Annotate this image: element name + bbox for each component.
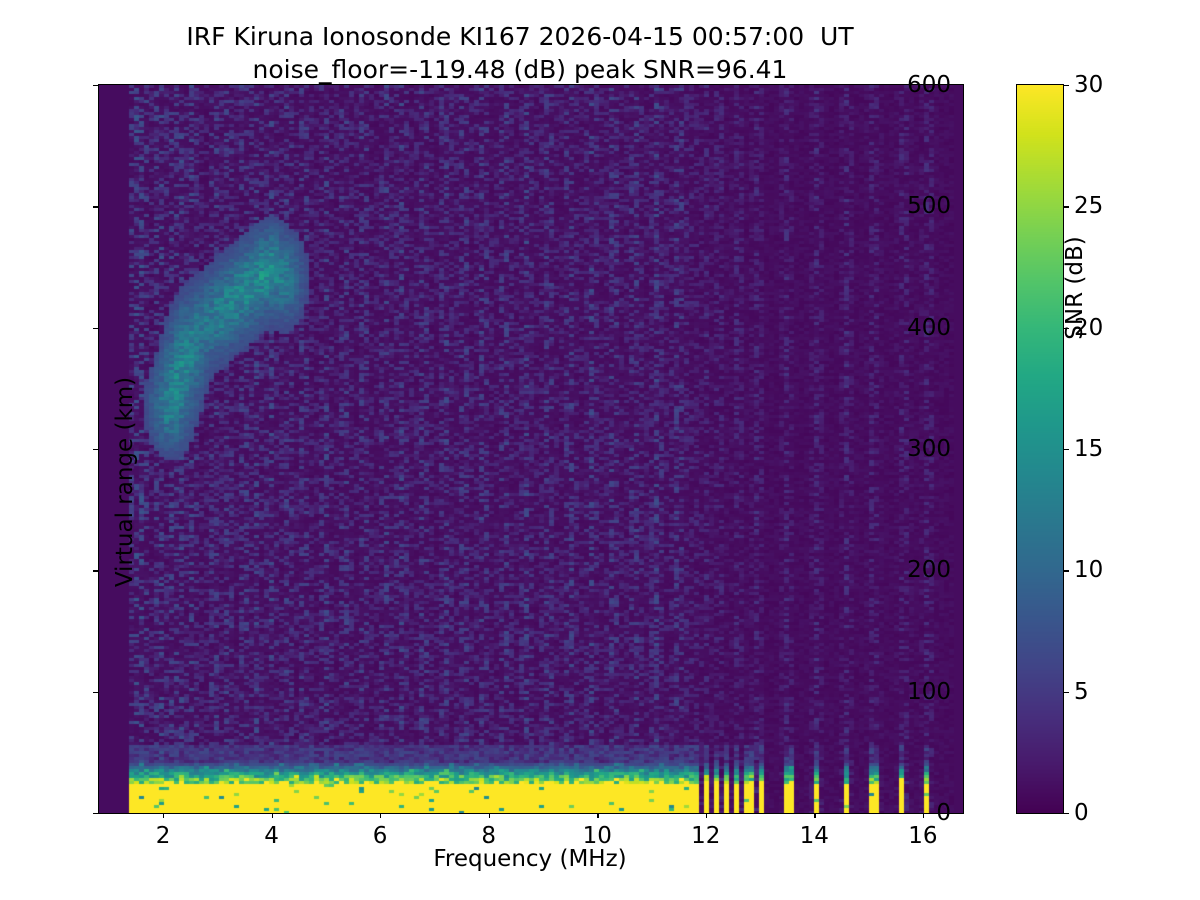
ionogram-figure: IRF Kiruna Ionosonde KI167 2026-04-15 00…	[0, 0, 1200, 900]
y-tick-label: 600	[907, 72, 951, 98]
x-tick-mark	[163, 813, 164, 818]
colorbar: 051015202530	[1016, 84, 1064, 814]
y-tick-label: 500	[907, 193, 951, 219]
x-axis-label: Frequency (MHz)	[98, 846, 962, 872]
y-tick-mark	[93, 813, 98, 814]
y-tick-mark	[93, 449, 98, 450]
y-tick-label: 100	[907, 679, 951, 705]
y-tick-label: 400	[907, 315, 951, 341]
y-tick-label: 300	[907, 436, 951, 462]
colorbar-tick-mark	[1064, 813, 1069, 814]
x-tick-mark	[814, 813, 815, 818]
y-tick-mark	[93, 85, 98, 86]
title-line-1: IRF Kiruna Ionosonde KI167 2026-04-15 00…	[0, 20, 1040, 53]
title-line-2: noise_floor=-119.48 (dB) peak SNR=96.41	[0, 53, 1040, 86]
plot-axes: 0100200300400500600 246810121416 Virtual…	[98, 84, 964, 814]
colorbar-tick-mark	[1064, 85, 1069, 86]
colorbar-tick-mark	[1064, 449, 1069, 450]
colorbar-tick-mark	[1064, 570, 1069, 571]
y-tick-label: 200	[907, 557, 951, 583]
colorbar-tick-label: 0	[1074, 800, 1089, 826]
y-tick-mark	[93, 570, 98, 571]
y-tick-mark	[93, 328, 98, 329]
x-tick-mark	[923, 813, 924, 818]
colorbar-tick-mark	[1064, 692, 1069, 693]
x-tick-mark	[489, 813, 490, 818]
colorbar-label: SNR (dB)	[1062, 128, 1088, 448]
ionogram-heatmap	[99, 85, 963, 813]
x-tick-mark	[380, 813, 381, 818]
x-tick-mark	[706, 813, 707, 818]
colorbar-tick-label: 30	[1074, 72, 1103, 98]
y-tick-mark	[93, 206, 98, 207]
x-tick-mark	[597, 813, 598, 818]
colorbar-tick-label: 10	[1074, 557, 1103, 583]
y-axis-label: Virtual range (km)	[112, 302, 138, 662]
x-tick-mark	[272, 813, 273, 818]
y-tick-label: 0	[936, 800, 951, 826]
colorbar-gradient	[1017, 85, 1063, 813]
colorbar-tick-label: 5	[1074, 679, 1089, 705]
figure-title: IRF Kiruna Ionosonde KI167 2026-04-15 00…	[0, 20, 1040, 86]
y-tick-mark	[93, 692, 98, 693]
